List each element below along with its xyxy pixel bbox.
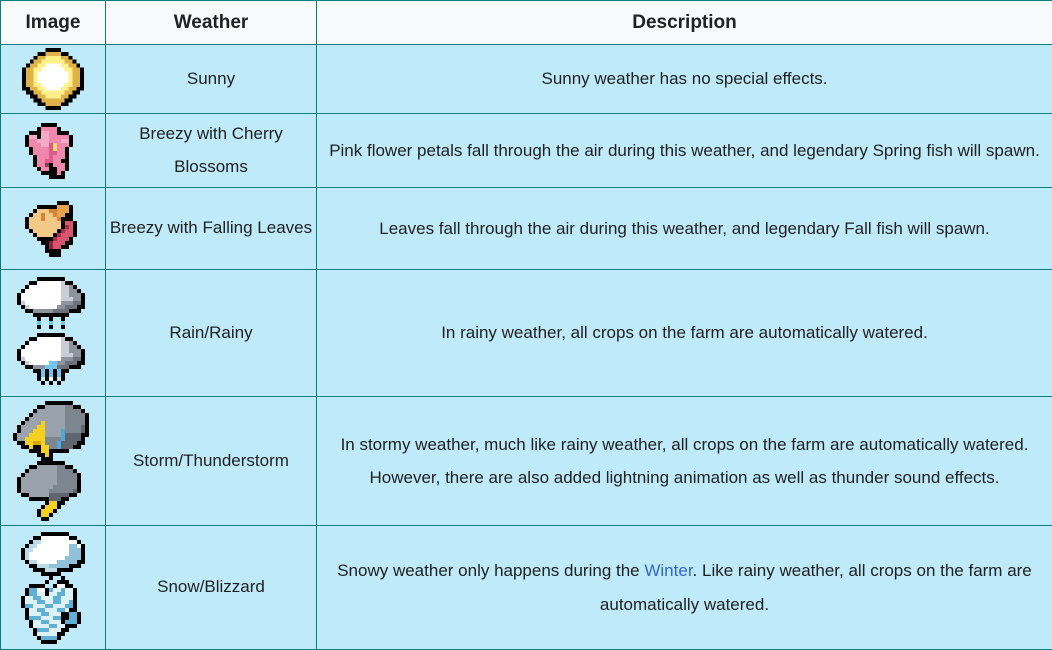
winter-link[interactable]: Winter (644, 561, 692, 580)
rain-cloud-icon (1, 277, 105, 389)
weather-icon-cell (1, 397, 106, 526)
weather-icon-cell (1, 114, 106, 188)
table-row: Breezy with Cherry Blossoms Pink flower … (1, 114, 1052, 188)
weather-description-cell: Sunny weather has no special effects. (317, 45, 1052, 114)
column-header-weather: Weather (106, 1, 317, 45)
table-body: Sunny Sunny weather has no special effec… (1, 45, 1052, 650)
weather-name-cell: Sunny (106, 45, 317, 114)
weather-description-cell: Leaves fall through the air during this … (317, 188, 1052, 270)
weather-description-cell: In stormy weather, much like rainy weath… (317, 397, 1052, 526)
weather-description-cell: In rainy weather, all crops on the farm … (317, 270, 1052, 397)
table-row: Breezy with Falling Leaves Leaves fall t… (1, 188, 1052, 270)
cherry-blossom-icon (1, 119, 105, 183)
weather-name-cell: Storm/Thunderstorm (106, 397, 317, 526)
weather-name-cell: Breezy with Cherry Blossoms (106, 114, 317, 188)
table-header-row: Image Weather Description (1, 1, 1052, 45)
table-row: Rain/Rainy In rainy weather, all crops o… (1, 270, 1052, 397)
weather-name-cell: Breezy with Falling Leaves (106, 188, 317, 270)
weather-table: Image Weather Description (0, 0, 1052, 650)
sun-icon (1, 48, 105, 110)
weather-icon-cell (1, 188, 106, 270)
table-header: Image Weather Description (1, 1, 1052, 45)
weather-name-cell: Rain/Rainy (106, 270, 317, 397)
weather-description-cell: Pink flower petals fall through the air … (317, 114, 1052, 188)
column-header-image: Image (1, 1, 106, 45)
table-row: Storm/Thunderstorm In stormy weather, mu… (1, 397, 1052, 526)
weather-description-cell: Snowy weather only happens during the Wi… (317, 526, 1052, 650)
weather-name-cell: Snow/Blizzard (106, 526, 317, 650)
weather-icon-cell (1, 270, 106, 397)
storm-cloud-icon (1, 400, 105, 522)
weather-icon-cell (1, 45, 106, 114)
weather-icon-cell (1, 526, 106, 650)
falling-leaves-icon (1, 197, 105, 261)
description-text-before: Snowy weather only happens during the (337, 561, 644, 580)
column-header-description: Description (317, 1, 1052, 45)
snow-cloud-icon (1, 532, 105, 644)
table-row: Sunny Sunny weather has no special effec… (1, 45, 1052, 114)
table-row: Snow/Blizzard Snowy weather only happens… (1, 526, 1052, 650)
